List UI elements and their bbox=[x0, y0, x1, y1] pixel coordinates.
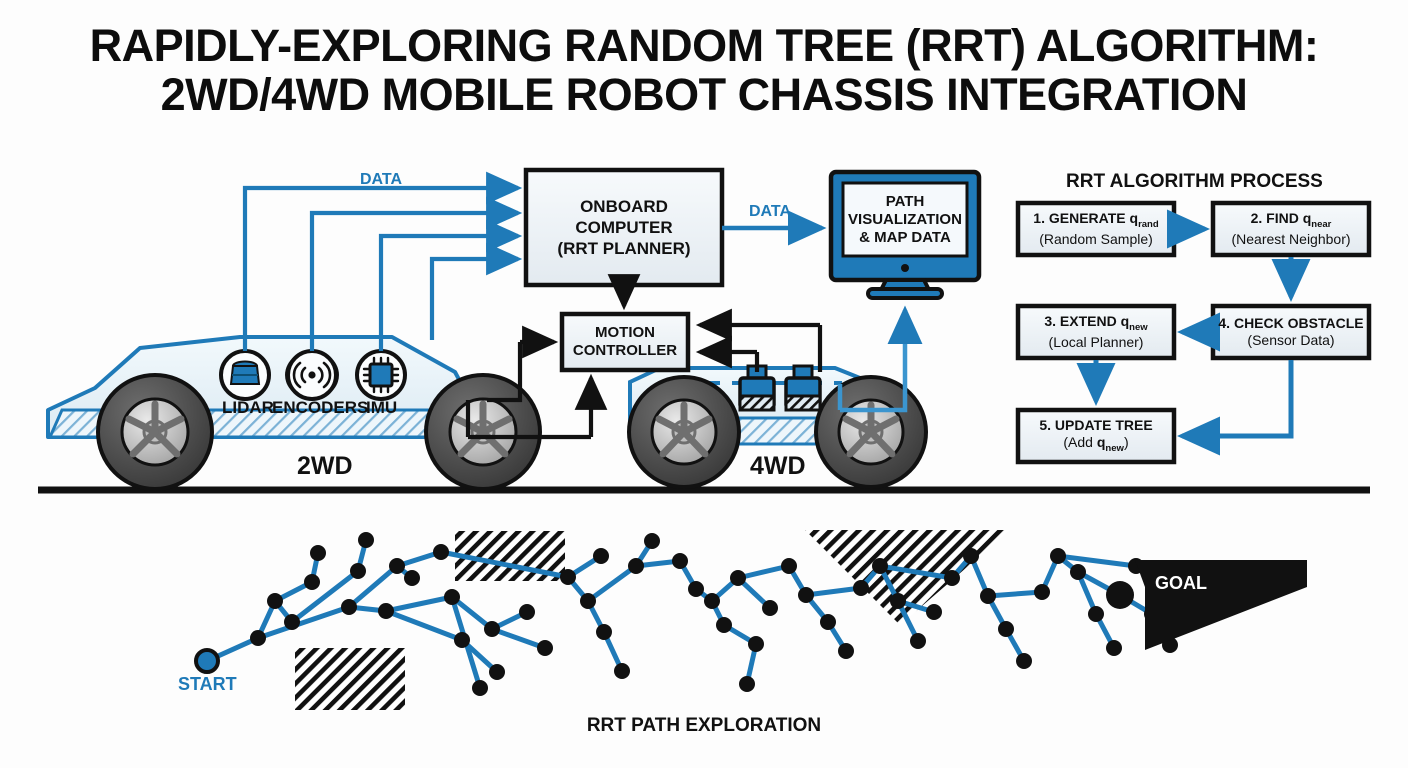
rrt-node bbox=[284, 614, 300, 630]
rrt-goal-node bbox=[1106, 581, 1134, 609]
rrt-edge bbox=[588, 566, 636, 601]
exploration-obstacles bbox=[295, 530, 1010, 710]
rrt-node bbox=[644, 533, 660, 549]
sensor-label-imu: IMU bbox=[366, 398, 397, 418]
wheel-4wd-front bbox=[629, 377, 739, 487]
rrt-node bbox=[614, 663, 630, 679]
process-box-1[interactable] bbox=[1018, 203, 1174, 255]
rrt-node bbox=[537, 640, 553, 656]
rrt-edge bbox=[386, 597, 452, 611]
rrt-node bbox=[378, 603, 394, 619]
sensor-label-lidar: LIDAR bbox=[222, 398, 274, 418]
rrt-node bbox=[1088, 606, 1104, 622]
rrt-node bbox=[853, 580, 869, 596]
rrt-node bbox=[762, 600, 778, 616]
rrt-node bbox=[1016, 653, 1032, 669]
diagram-canvas: RAPIDLY-EXPLORING RANDOM TREE (RRT) ALGO… bbox=[0, 0, 1408, 768]
rrt-node bbox=[963, 548, 979, 564]
rrt-node bbox=[980, 588, 996, 604]
rrt-node bbox=[1050, 548, 1066, 564]
diagram-graphics bbox=[0, 0, 1408, 768]
rrt-node bbox=[304, 574, 320, 590]
rrt-edge bbox=[386, 611, 462, 640]
process-box-4[interactable] bbox=[1213, 306, 1369, 358]
sensor-data-routes bbox=[245, 188, 518, 351]
rrt-edge bbox=[492, 629, 545, 648]
rrt-node bbox=[798, 587, 814, 603]
process-box-5[interactable] bbox=[1018, 410, 1174, 462]
rrt-node bbox=[596, 624, 612, 640]
rrt-edge bbox=[988, 592, 1042, 596]
rrt-node bbox=[910, 633, 926, 649]
obstacle-rect-1 bbox=[295, 648, 405, 710]
sensor-imu[interactable] bbox=[357, 351, 405, 399]
sensor-label-encoders: ENCODERS bbox=[272, 398, 368, 418]
rrt-node bbox=[1034, 584, 1050, 600]
process-box-3[interactable] bbox=[1018, 306, 1174, 358]
wheel-4wd-rear bbox=[816, 377, 926, 487]
rrt-node bbox=[672, 553, 688, 569]
rrt-node bbox=[310, 545, 326, 561]
rrt-node bbox=[926, 604, 942, 620]
rrt-node bbox=[730, 570, 746, 586]
goal-label: GOAL bbox=[1155, 573, 1207, 594]
onboard-computer-box[interactable] bbox=[526, 170, 722, 285]
process-box-2[interactable] bbox=[1213, 203, 1369, 255]
chassis-label-2wd: 2WD bbox=[297, 452, 353, 481]
motion-controller-box[interactable] bbox=[562, 314, 688, 370]
data-label-right: DATA bbox=[749, 203, 791, 221]
rrt-node bbox=[444, 589, 460, 605]
rrt-node bbox=[739, 676, 755, 692]
process-heading: RRT ALGORITHM PROCESS bbox=[1066, 171, 1323, 193]
rrt-edge bbox=[806, 588, 861, 595]
rrt-node bbox=[484, 621, 500, 637]
rrt-node bbox=[250, 630, 266, 646]
rrt-node bbox=[890, 593, 906, 609]
rrt-node bbox=[704, 593, 720, 609]
data-label-left: DATA bbox=[360, 171, 402, 189]
rrt-node bbox=[389, 558, 405, 574]
rrt-node bbox=[267, 593, 283, 609]
rrt-node bbox=[781, 558, 797, 574]
rrt-node bbox=[472, 680, 488, 696]
rrt-node bbox=[628, 558, 644, 574]
rrt-node bbox=[820, 614, 836, 630]
rrt-node bbox=[838, 643, 854, 659]
rrt-node bbox=[998, 621, 1014, 637]
rrt-node bbox=[1070, 564, 1086, 580]
rrt-node bbox=[688, 581, 704, 597]
rrt-start-node bbox=[196, 650, 218, 672]
rrt-node bbox=[872, 558, 888, 574]
rrt-node bbox=[341, 599, 357, 615]
wheel-2wd-rear bbox=[426, 375, 540, 489]
process-flowchart bbox=[1018, 203, 1369, 462]
rrt-node bbox=[404, 570, 420, 586]
sensor-encoders[interactable] bbox=[286, 351, 337, 399]
rrt-node bbox=[454, 632, 470, 648]
rrt-node bbox=[1106, 640, 1122, 656]
rrt-node bbox=[433, 544, 449, 560]
wheel-2wd-front bbox=[98, 375, 212, 489]
chassis-label-4wd: 4WD bbox=[750, 452, 806, 481]
rrt-node bbox=[716, 617, 732, 633]
rrt-node bbox=[580, 593, 596, 609]
rrt-node bbox=[944, 570, 960, 586]
rrt-node bbox=[519, 604, 535, 620]
sensor-lidar[interactable] bbox=[221, 351, 269, 399]
monitor-path-visualization[interactable] bbox=[831, 172, 979, 298]
rrt-node bbox=[593, 548, 609, 564]
rrt-node bbox=[350, 563, 366, 579]
start-label: START bbox=[178, 674, 237, 695]
rrt-node bbox=[489, 664, 505, 680]
rrt-node bbox=[358, 532, 374, 548]
rrt-node bbox=[560, 569, 576, 585]
rrt-node bbox=[748, 636, 764, 652]
exploration-caption: RRT PATH EXPLORATION bbox=[0, 715, 1408, 737]
